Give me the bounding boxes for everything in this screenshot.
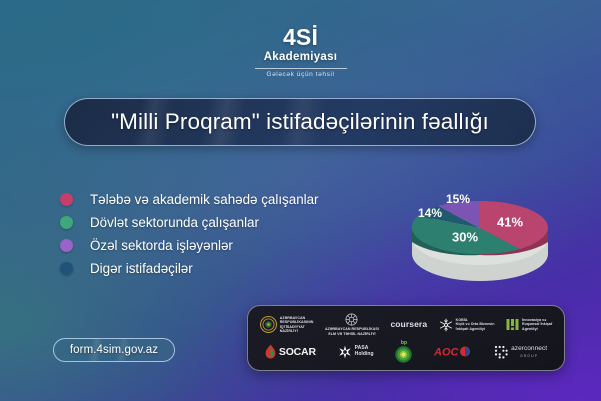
partners-row-1: AZƏRBAYCAN RESPUBLİKASININ İQTİSADİYYAT …: [254, 312, 558, 338]
partner-label: azerconnect: [511, 345, 547, 352]
legend-label: Tələbə və akademik sahədə çalışanlar: [90, 192, 319, 207]
socar-flame-icon: [265, 344, 276, 359]
partner-label: KOBİA Kiçik və Orta Biznesin İnkişafı Ag…: [456, 318, 495, 331]
partner-label: AZƏRBAYCAN RESPUBLİKASININ İQTİSADİYYAT …: [280, 316, 314, 334]
brand-tagline: Gələcək üçün təhsil: [0, 72, 601, 79]
partner-bp: bp: [395, 340, 412, 363]
partner-socar: SOCAR: [265, 344, 316, 359]
partner-sublabel: GROUP: [520, 354, 538, 358]
legend-label: Dövlət sektorunda çalışanlar: [90, 215, 259, 230]
pie-label-14: 14%: [418, 206, 442, 220]
legend-item-public-sector: Dövlət sektorunda çalışanlar: [60, 211, 319, 234]
legend-dot-icon: [60, 193, 73, 206]
partner-coursera: coursera: [390, 319, 427, 329]
partner-label: coursera: [390, 319, 427, 329]
partner-education-ministry: AZƏRBAYCAN RESPUBLİKASI ELM VƏ TƏHSİL NA…: [325, 313, 379, 336]
partner-aoc: AOC: [434, 345, 472, 358]
bp-helios-icon: [395, 346, 412, 363]
chart-legend: Tələbə və akademik sahədə çalışanlar Döv…: [60, 188, 319, 280]
partner-label: AZƏRBAYCAN RESPUBLİKASI ELM VƏ TƏHSİL NA…: [325, 327, 379, 336]
partner-label: SOCAR: [279, 346, 316, 358]
emblem-icon: [260, 316, 277, 333]
brand-subtitle: Akademiyası: [0, 52, 601, 64]
partners-row-2: SOCAR PASA Holding bp: [254, 339, 558, 365]
partner-label: İnnovasiya və Rəqəmsal İnkişaf Agentliyi: [522, 318, 552, 331]
star-emblem-icon: [345, 313, 358, 326]
website-url-badge[interactable]: form.4sim.gov.az: [53, 338, 175, 362]
pie-chart-svg: 41% 30% 14% 15%: [392, 166, 568, 291]
svg-text:AOC: AOC: [434, 347, 460, 359]
partner-pasa-holding: PASA Holding: [338, 345, 374, 359]
pasa-star-icon: [338, 345, 352, 359]
partner-kobia: KOBİA Kiçik və Orta Biznesin İnkişafı Ag…: [439, 318, 495, 332]
legend-dot-icon: [60, 262, 73, 275]
partner-economy-ministry: AZƏRBAYCAN RESPUBLİKASININ İQTİSADİYYAT …: [260, 316, 314, 334]
green-blocks-icon: [506, 318, 519, 331]
legend-label: Özəl sektorda işləyənlər: [90, 238, 233, 253]
brand-logo: 4Sİ Akademiyası Gələcək üçün təhsil: [0, 26, 601, 78]
partners-panel: AZƏRBAYCAN RESPUBLİKASININ İQTİSADİYYAT …: [247, 305, 565, 371]
legend-dot-icon: [60, 239, 73, 252]
page-title: "Milli Proqram" istifadəçilərinin fəallı…: [64, 98, 536, 146]
legend-item-other-users: Digər istifadəçilər: [60, 257, 319, 280]
partner-label: PASA Holding: [355, 346, 374, 358]
legend-dot-icon: [60, 216, 73, 229]
partner-azerconnect: azerconnect GROUP: [494, 345, 547, 359]
legend-item-private-sector: Özəl sektorda işləyənlər: [60, 234, 319, 257]
partner-innovation-agency: İnnovasiya və Rəqəmsal İnkişaf Agentliyi: [506, 318, 552, 331]
legend-item-students: Tələbə və akademik sahədə çalışanlar: [60, 188, 319, 211]
dot-matrix-icon: [494, 345, 508, 359]
pie-chart: 41% 30% 14% 15%: [392, 166, 568, 291]
aoc-logo-icon: AOC: [434, 345, 472, 358]
pie-label-15: 15%: [446, 192, 470, 206]
pie-label-41: 41%: [497, 214, 523, 229]
page-title-text: "Milli Proqram" istifadəçilərinin fəallı…: [111, 109, 489, 135]
snowflake-icon: [439, 318, 453, 332]
brand-name: 4Sİ: [0, 26, 601, 49]
website-url-text: form.4sim.gov.az: [70, 344, 158, 356]
legend-label: Digər istifadəçilər: [90, 261, 193, 276]
pie-label-30: 30%: [452, 229, 478, 244]
brand-divider: [255, 68, 347, 69]
poster-canvas: 4Sİ Akademiyası Gələcək üçün təhsil "Mil…: [0, 0, 601, 401]
